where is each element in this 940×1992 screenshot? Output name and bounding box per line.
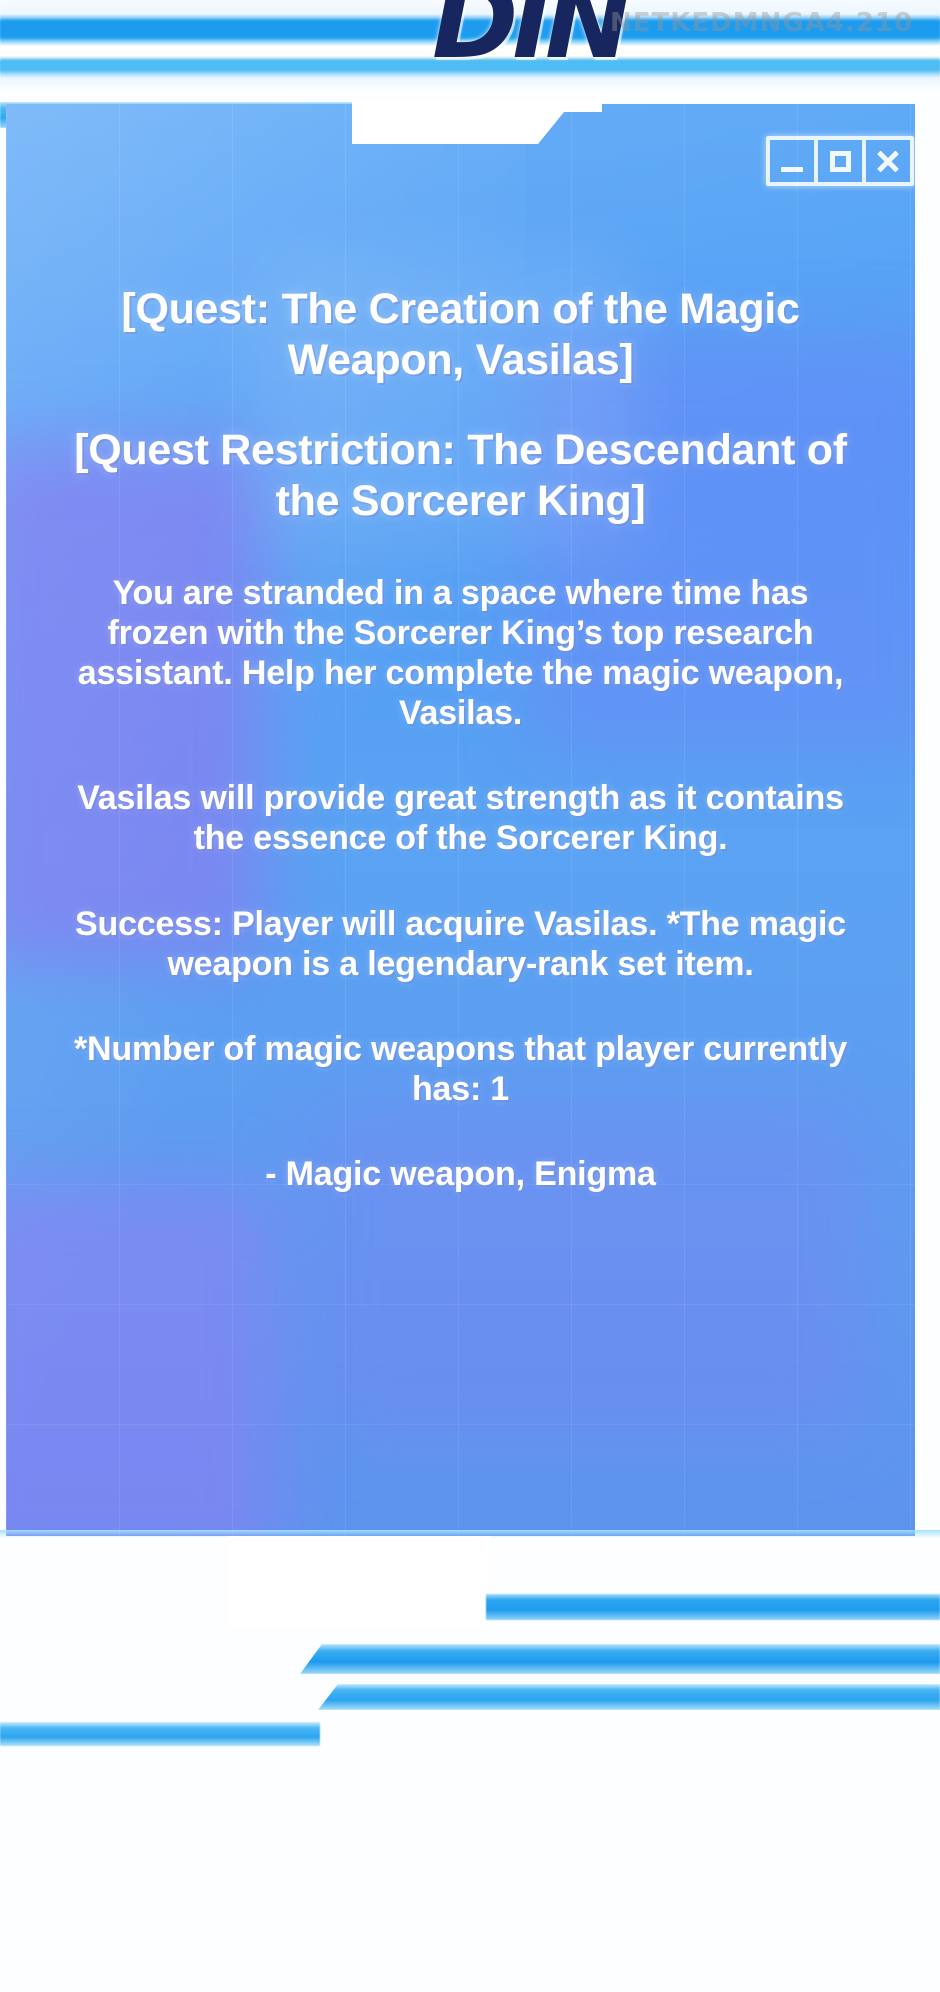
footer-bar-mid	[300, 1644, 940, 1674]
quest-restriction: [Quest Restriction: The Descendant of th…	[46, 425, 875, 526]
maximize-icon	[830, 151, 851, 172]
quest-effect: Vasilas will provide great strength as i…	[46, 778, 875, 858]
minimize-icon	[781, 167, 803, 172]
bottom-frame	[0, 1508, 940, 1838]
quest-success: Success: Player will acquire Vasilas. *T…	[46, 904, 875, 984]
minimize-button[interactable]	[770, 140, 814, 182]
quest-content: [Quest: The Creation of the Magic Weapon…	[46, 284, 875, 1194]
close-button[interactable]	[862, 140, 910, 182]
footer-bar-left	[0, 1722, 320, 1746]
maximize-button[interactable]	[814, 140, 862, 182]
logo-watermark-text: NETKEDMNGA4.210	[610, 8, 940, 42]
footer-bar-upper	[486, 1594, 940, 1620]
footer-bar-lower	[318, 1684, 940, 1710]
quest-description: You are stranded in a space where time h…	[46, 573, 875, 733]
quest-window-panel: [Quest: The Creation of the Magic Weapon…	[6, 104, 915, 1536]
top-banner: DIN NETKEDMNGA4.210	[0, 0, 940, 92]
footer-notch	[228, 1536, 490, 1628]
panel-grid-texture-horizontal	[6, 1184, 915, 1536]
quest-inventory-item: - Magic weapon, Enigma	[46, 1154, 875, 1194]
quest-inventory-note: *Number of magic weapons that player cur…	[46, 1029, 875, 1109]
window-controls	[766, 136, 914, 186]
quest-title: [Quest: The Creation of the Magic Weapon…	[46, 284, 875, 385]
close-icon	[875, 148, 901, 174]
